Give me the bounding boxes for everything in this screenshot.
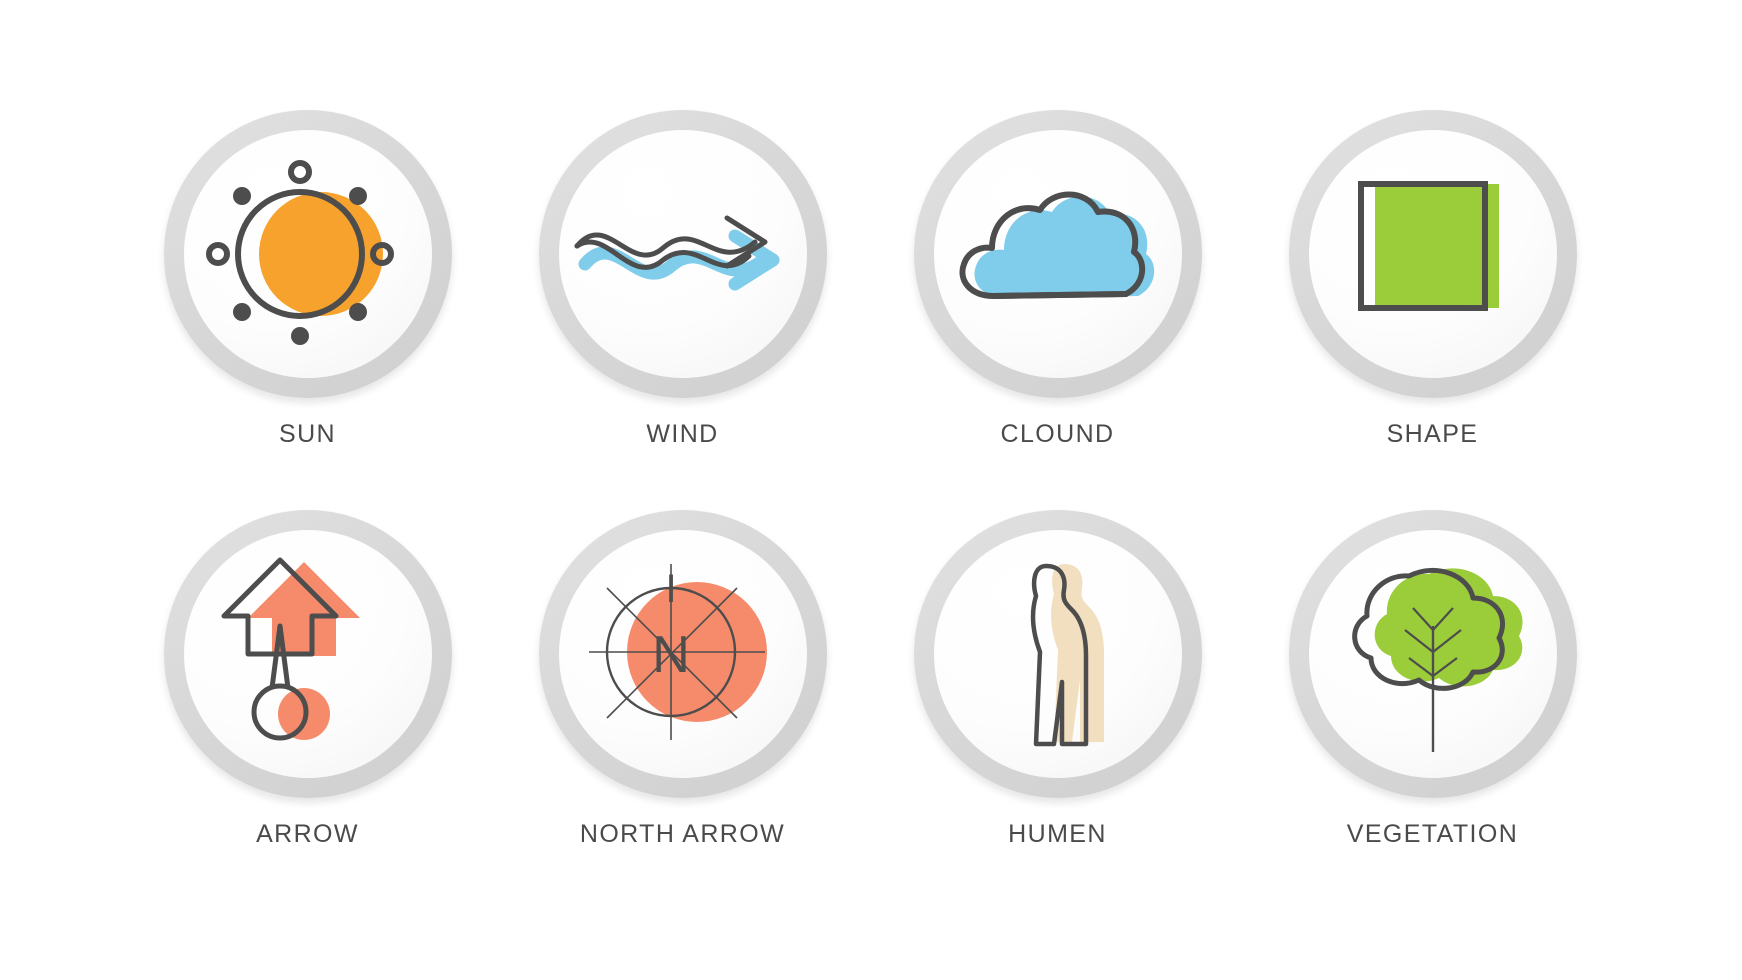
badge-wind bbox=[539, 110, 827, 398]
icon-label-sun: SUN bbox=[279, 420, 336, 449]
badge-north-arrow: I N bbox=[539, 510, 827, 798]
north-arrow-letter-top: I bbox=[665, 567, 676, 611]
icon-label-clound: CLOUND bbox=[1001, 420, 1115, 449]
icon-cell-shape[interactable]: SHAPE bbox=[1245, 110, 1620, 510]
icon-cell-humen[interactable]: HUMEN bbox=[870, 510, 1245, 910]
arrow-icon bbox=[184, 530, 432, 778]
badge-humen bbox=[914, 510, 1202, 798]
icon-label-arrow: ARROW bbox=[256, 820, 359, 849]
icon-cell-clound[interactable]: CLOUND bbox=[870, 110, 1245, 510]
badge-clound bbox=[914, 110, 1202, 398]
badge-sun bbox=[164, 110, 452, 398]
sun-icon bbox=[184, 130, 432, 378]
icon-grid: SUN bbox=[120, 110, 1620, 910]
north-arrow-letter-center: N bbox=[652, 626, 690, 684]
icon-label-humen: HUMEN bbox=[1008, 820, 1107, 849]
wind-icon bbox=[559, 130, 807, 378]
icon-set-board: SUN bbox=[0, 0, 1742, 980]
badge-vegetation bbox=[1289, 510, 1577, 798]
icon-label-vegetation: VEGETATION bbox=[1347, 820, 1518, 849]
icon-cell-vegetation[interactable]: VEGETATION bbox=[1245, 510, 1620, 910]
icon-label-wind: WIND bbox=[646, 420, 718, 449]
north-arrow-icon: I N bbox=[559, 530, 807, 778]
icon-cell-arrow[interactable]: ARROW bbox=[120, 510, 495, 910]
human-icon bbox=[934, 530, 1182, 778]
vegetation-tree-icon bbox=[1309, 530, 1557, 778]
cloud-icon bbox=[934, 130, 1182, 378]
icon-label-north-arrow: NORTH ARROW bbox=[580, 820, 785, 849]
icon-label-shape: SHAPE bbox=[1387, 420, 1479, 449]
badge-shape bbox=[1289, 110, 1577, 398]
shape-icon bbox=[1309, 130, 1557, 378]
icon-cell-wind[interactable]: WIND bbox=[495, 110, 870, 510]
badge-arrow bbox=[164, 510, 452, 798]
icon-cell-north-arrow[interactable]: I N NORTH ARROW bbox=[495, 510, 870, 910]
icon-cell-sun[interactable]: SUN bbox=[120, 110, 495, 510]
